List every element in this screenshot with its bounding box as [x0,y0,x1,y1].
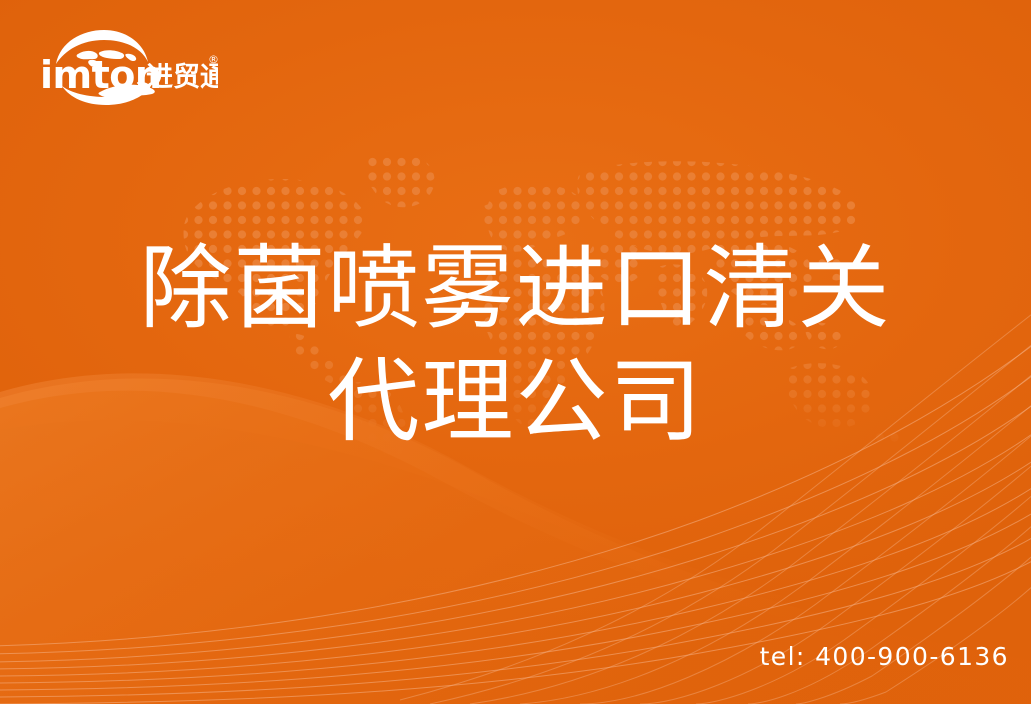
svg-text:进贸通: 进贸通 [146,62,218,93]
imton-wordmark: imton [40,53,161,97]
imton-logo[interactable]: imton 进贸通 ® [38,26,218,106]
svg-text:imton: imton [40,53,161,97]
headline: 除菌喷雾进口清关 代理公司 [0,232,1031,458]
promo-banner: imton 进贸通 ® 除菌喷雾进口清关 代理公司 tel: 400-900-6… [0,0,1031,704]
svg-text:®: ® [208,53,218,66]
headline-line-2: 代理公司 [0,345,1031,458]
headline-line-1: 除菌喷雾进口清关 [0,232,1031,345]
chinese-name: 进贸通 [146,62,218,93]
contact-telephone[interactable]: tel: 400-900-6136 [760,642,1009,671]
registered-trademark-icon: ® [208,53,218,66]
